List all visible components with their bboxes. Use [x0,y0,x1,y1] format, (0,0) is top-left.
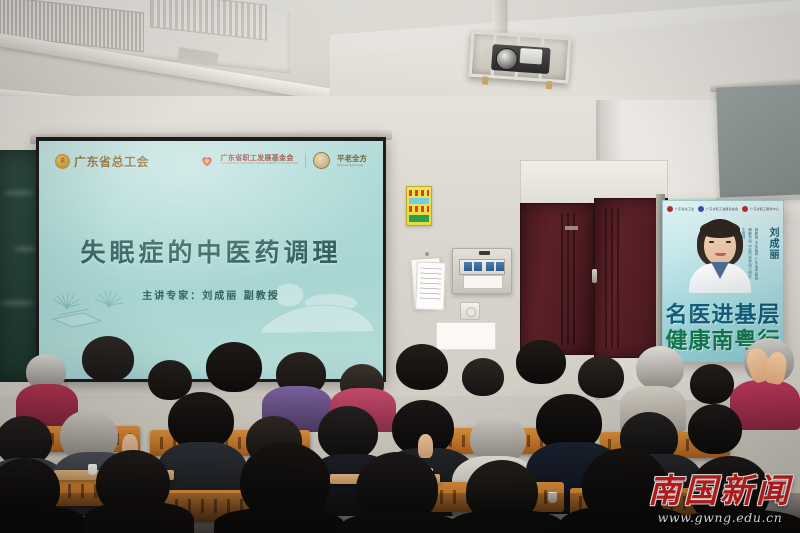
foreground-shadow [0,493,800,533]
audience-head [516,340,566,384]
audience-head [462,358,504,396]
audience-head [206,342,262,392]
logo-divider [305,153,306,168]
banner-partner-logo-1: 广东省职工服务中心 [742,206,779,212]
paper-cup [88,464,97,475]
slide-logo-row: 总 广东省总工会 广东省职工发展基金会 GUANGDONG WORKERS DE… [39,151,383,177]
gdftu-logo: 总 广东省总工会 [55,153,149,170]
lecture-hall-photo: 总 广东省总工会 广东省职工发展基金会 GUANGDONG WORKERS DE… [0,0,800,533]
heart-icon [200,154,214,168]
panel-indicator [479,251,490,255]
panel-breaker-row [459,259,505,275]
paper-text-lines [419,268,441,303]
banner-partner-logo-0: 广东省职工发展基金会 [698,206,738,212]
portrait-mouth [715,253,726,256]
panel-label-sticker [463,275,503,289]
audience-head [688,404,742,454]
union-seal-icon: 总 [55,154,70,169]
banner-logo-strip: 广东省总工会 广东省职工发展基金会 广东省职工服务中心 平老全方 [663,203,783,215]
audience-seating-area [0,330,800,533]
window-roller-blind[interactable] [716,84,800,199]
doctor-name: 刘成丽 [767,227,778,260]
partner-logo-text: 平老全方 Ping Lao Quan Fang [337,155,367,167]
sleeping-person-illustration [259,273,377,335]
electrical-distribution-panel [452,248,512,294]
audience-head [318,406,378,460]
audience-head [636,346,684,390]
gdftu-logo-text: 广东省总工会 [74,153,149,170]
door-nameplate [565,226,578,230]
foundation-logo-text: 广东省职工发展基金会 GUANGDONG WORKERS DEVELOPMENT… [221,155,298,166]
slide-partner-logos: 广东省职工发展基金会 GUANGDONG WORKERS DEVELOPMENT… [200,152,367,169]
projector-housing [520,48,543,64]
banner-partner-logo-2: 平老全方 [783,206,784,212]
round-seal-icon [313,152,330,169]
slide-title: 失眠症的中医药调理 [39,233,383,269]
push-pin-icon [425,252,429,256]
projector-security-cage [469,31,572,84]
doctor-credentials: 副教授 主任医师 广东省中医院 睡眠专科 中医内科学硕士研究生导师 [740,228,759,282]
notice-footer [409,215,429,222]
portrait-fringe [700,221,740,238]
slide-subtitle: 主讲专家：刘成丽 副教授 [39,287,383,302]
audience-head [690,364,734,404]
audience-head [396,344,448,390]
audience-head [82,336,134,382]
wall-posted-paper-top [415,262,446,311]
banner-org-logo: 广东省总工会 [667,206,694,212]
audience-hand [418,434,433,458]
audience-head [578,356,624,398]
door-handle[interactable] [592,269,597,283]
safety-notice-sign [406,186,432,226]
wall-socket [460,302,480,320]
